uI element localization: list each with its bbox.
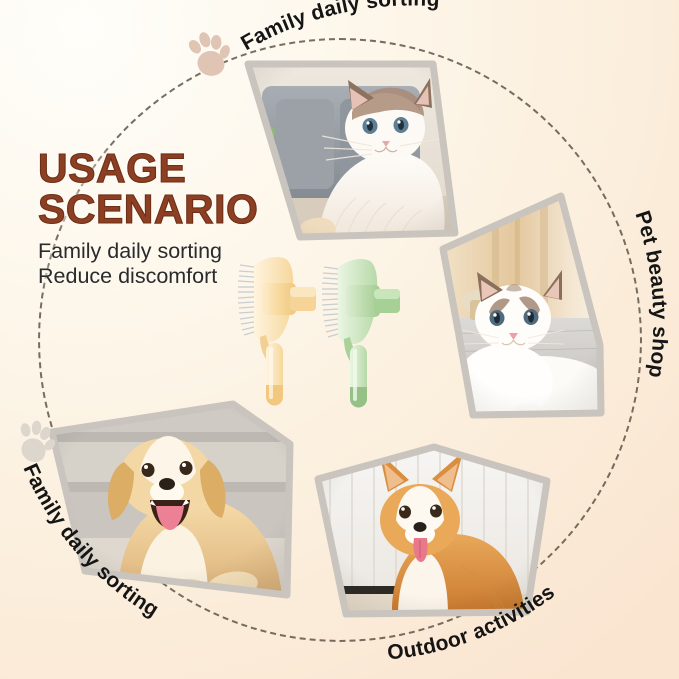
curved-captions-layer: Family daily sorting Pet beauty shop Out… (0, 0, 679, 679)
caption-outdoor-activities: Outdoor activities (386, 580, 559, 664)
caption-family-daily-sorting-bottom: Family daily sorting (18, 460, 162, 621)
caption-family-daily-sorting-top: Family daily sorting (237, 0, 440, 55)
caption-pet-beauty-shop: Pet beauty shop (630, 208, 671, 379)
usage-scenario-poster: Family daily sorting Pet beauty shop Out… (0, 0, 679, 679)
